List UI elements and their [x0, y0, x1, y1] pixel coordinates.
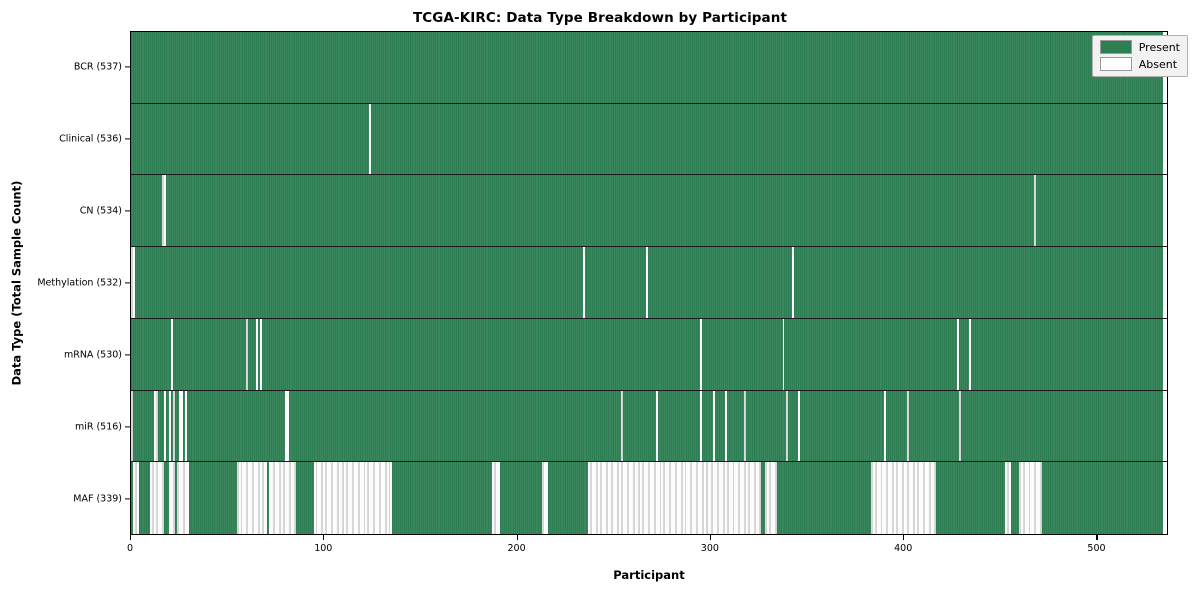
x-tick-label: 200 [508, 543, 526, 554]
x-tick-mark [323, 535, 324, 540]
y-tick-label-maf: MAF (339) [73, 494, 122, 505]
legend-swatch-present [1100, 40, 1132, 54]
chart-figure: TCGA-KIRC: Data Type Breakdown by Partic… [0, 0, 1200, 600]
heatmap-row [131, 104, 1167, 176]
heatmap-plot-area [130, 31, 1168, 535]
x-tick-mark [710, 535, 711, 540]
heatmap-cell [1161, 104, 1163, 175]
heatmap-row-cells [131, 247, 1167, 318]
heatmap-row [131, 391, 1167, 463]
heatmap-row-cells [131, 319, 1167, 390]
x-tick-mark [1096, 535, 1097, 540]
y-tick-label-mrna: mRNA (530) [64, 350, 122, 361]
heatmap-cell [1161, 175, 1163, 246]
legend-label-absent: Absent [1139, 59, 1177, 70]
heatmap-row-cells [131, 391, 1167, 462]
y-tick-label-cn: CN (534) [80, 206, 122, 217]
heatmap-row-cells [131, 175, 1167, 246]
heatmap-cell [1161, 391, 1163, 462]
legend-item-absent: Absent [1100, 57, 1180, 71]
legend-swatch-absent [1100, 57, 1132, 71]
heatmap-row [131, 247, 1167, 319]
heatmap-row-cells [131, 104, 1167, 175]
heatmap-cell [1161, 247, 1163, 318]
y-tick-label-bcr: BCR (537) [74, 62, 122, 73]
chart-legend: Present Absent [1092, 35, 1188, 77]
x-tick-label: 400 [894, 543, 912, 554]
heatmap-row [131, 175, 1167, 247]
x-axis: 0100200300400500 [130, 535, 1168, 565]
x-axis-title: Participant [130, 568, 1168, 582]
y-tick-label-clinical: Clinical (536) [59, 134, 122, 145]
x-tick-label: 300 [701, 543, 719, 554]
x-tick-label: 100 [314, 543, 332, 554]
heatmap-row [131, 32, 1167, 104]
x-tick-mark [903, 535, 904, 540]
x-tick-mark [130, 535, 131, 540]
y-tick-label-methylation: Methylation (532) [37, 278, 122, 289]
heatmap-cell [1161, 462, 1163, 534]
legend-label-present: Present [1139, 42, 1180, 53]
legend-item-present: Present [1100, 40, 1180, 54]
x-tick-mark [517, 535, 518, 540]
heatmap-row [131, 319, 1167, 391]
heatmap-row [131, 462, 1167, 534]
y-axis-tick-labels: BCR (537)Clinical (536)CN (534)Methylati… [0, 31, 130, 535]
heatmap-row-cells [131, 32, 1167, 103]
y-tick-label-mir: miR (516) [75, 422, 122, 433]
chart-title: TCGA-KIRC: Data Type Breakdown by Partic… [0, 10, 1200, 26]
heatmap-row-cells [131, 462, 1167, 534]
heatmap-cell [1161, 319, 1163, 390]
x-tick-label: 0 [127, 543, 133, 554]
x-tick-label: 500 [1087, 543, 1105, 554]
